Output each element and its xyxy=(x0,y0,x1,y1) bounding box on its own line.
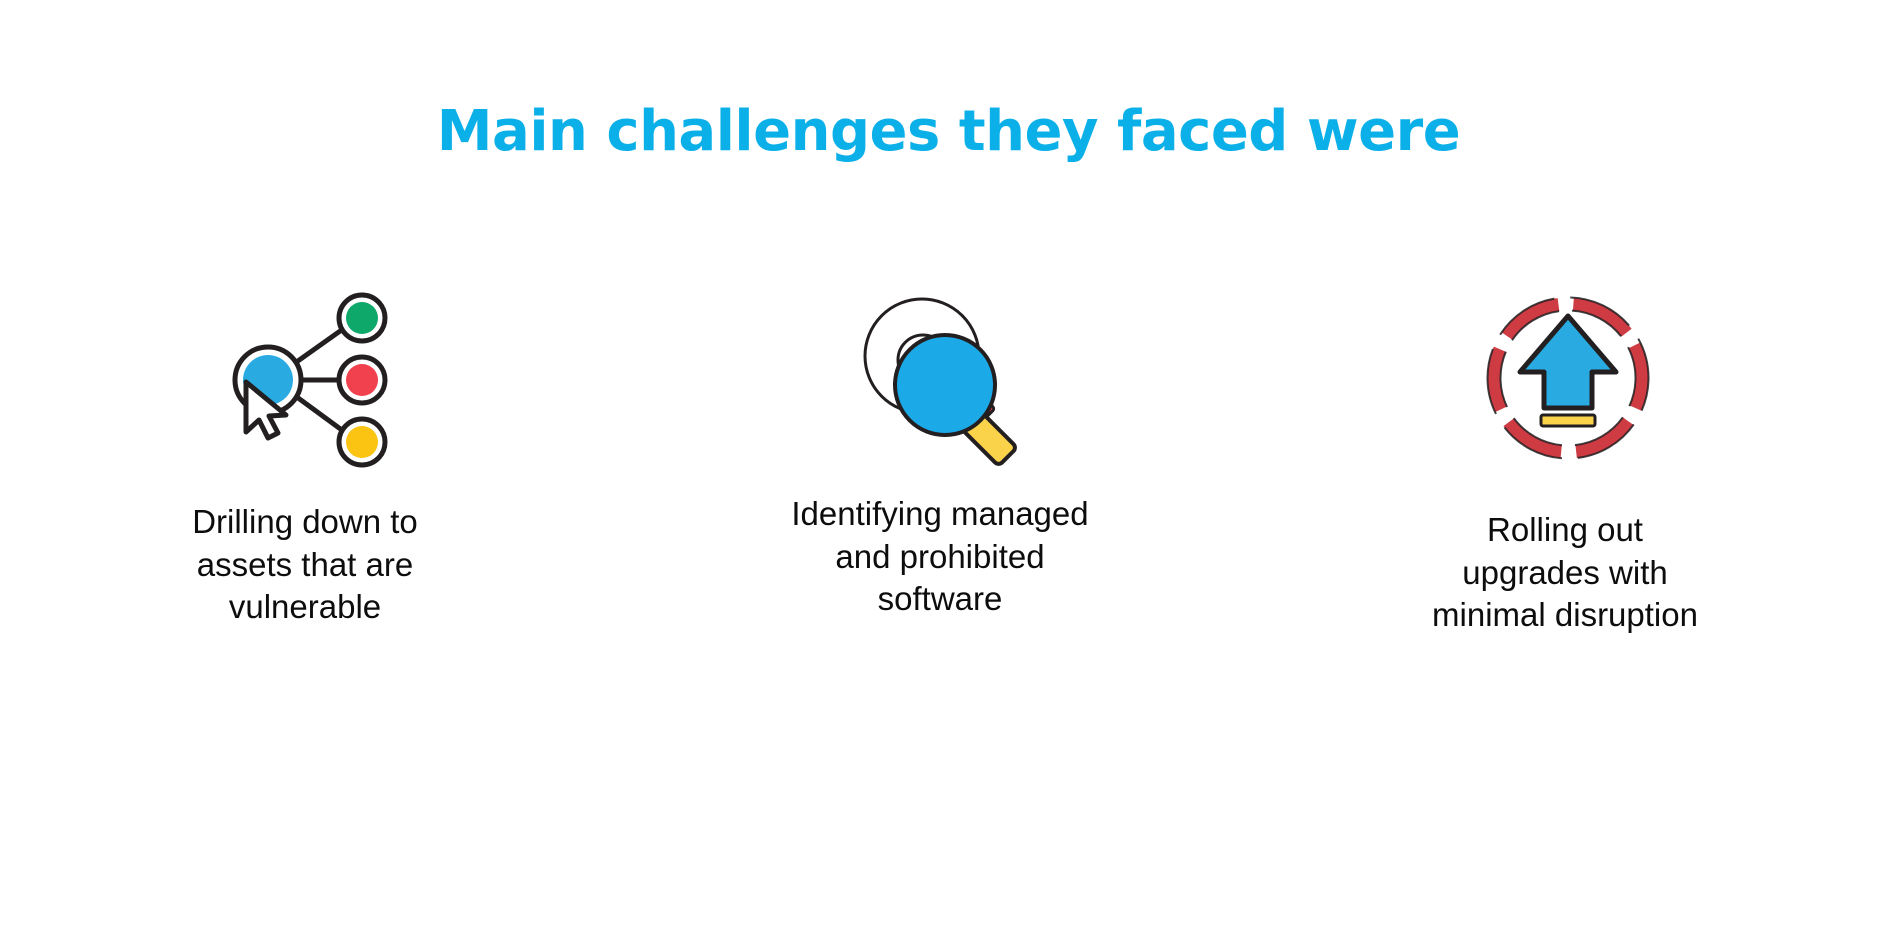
challenge-card-2-label: Identifying managed and prohibited softw… xyxy=(790,493,1090,621)
challenge-card-2: Identifying managed and prohibited softw… xyxy=(775,290,1105,621)
upgrade-arrow-icon xyxy=(1468,290,1668,465)
magnifying-glass-icon xyxy=(838,290,1038,465)
challenge-card-3: Rolling out upgrades with minimal disrup… xyxy=(1400,290,1730,637)
page-title: Main challenges they faced were xyxy=(0,100,1897,164)
challenge-card-1-label: Drilling down to assets that are vulnera… xyxy=(155,501,455,629)
slide-canvas: Main challenges they faced were xyxy=(0,0,1897,926)
challenge-cards-row: Drilling down to assets that are vulnera… xyxy=(0,290,1897,810)
challenge-card-1: Drilling down to assets that are vulnera… xyxy=(140,290,470,629)
challenge-card-3-label: Rolling out upgrades with minimal disrup… xyxy=(1415,509,1715,637)
network-drilldown-icon xyxy=(205,290,405,465)
